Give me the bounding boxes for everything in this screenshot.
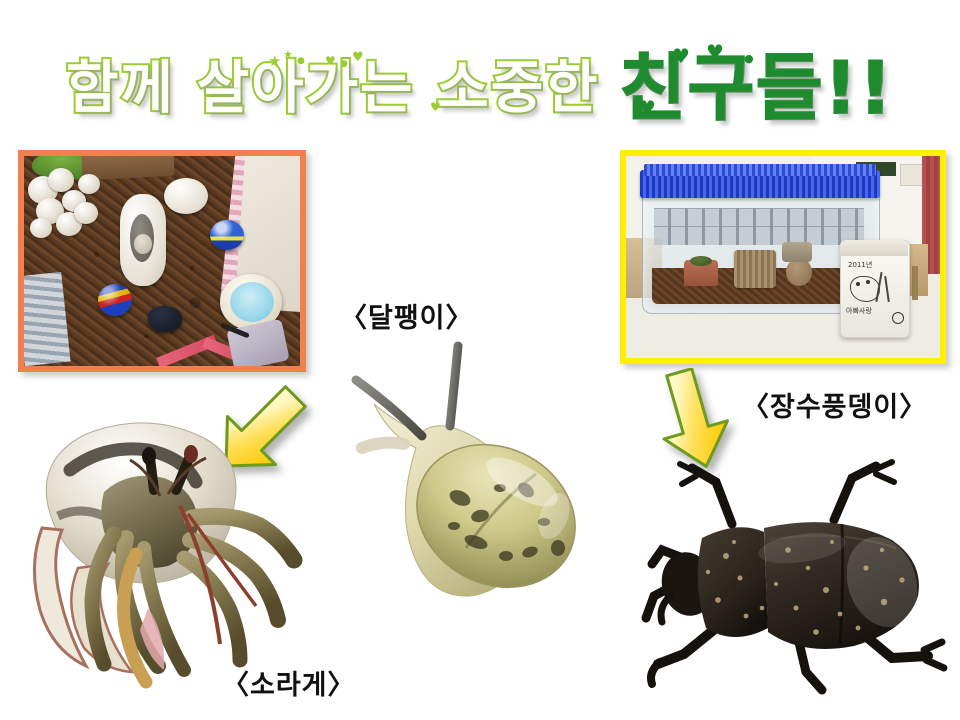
caption-snail: 〈달팽이〉 [340, 296, 474, 335]
page-title: 함께 살아가는 소중한 친구들!! [0, 38, 960, 138]
title-light-text: 함께 살아가는 소중한 [66, 60, 600, 117]
caption-hermit: 〈소라게〉 [222, 663, 356, 702]
snail-photo [330, 340, 610, 630]
beetle-photo [630, 432, 950, 697]
hermit-crab-habitat-photo [18, 150, 306, 372]
title-bold-text: 친구들!! [620, 52, 894, 124]
poster-canvas: 함께 살아가는 소중한 친구들!! ★ ★ ● ♥ ● ♥ ♥ ♥ ♥ ♥ ● [0, 0, 960, 720]
caption-beetle: 〈장수풍뎅이〉 [742, 385, 927, 424]
hermit-crab-photo [8, 398, 308, 698]
beetle-cage-photo: 2011년 아빠사랑 [620, 150, 946, 364]
